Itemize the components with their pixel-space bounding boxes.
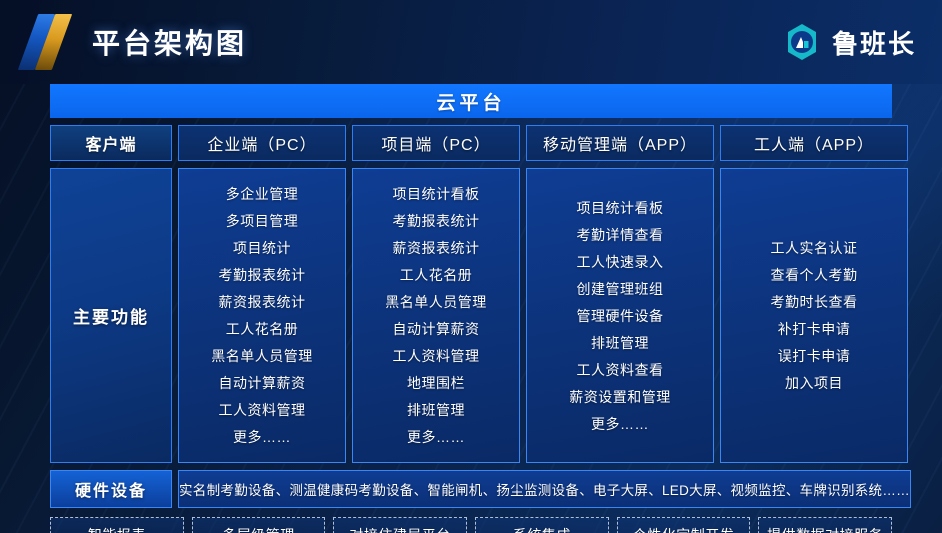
feature-item[interactable]: 工人资料管理 [393, 343, 480, 369]
cloud-platform-banner: 云平台 [50, 84, 892, 118]
feature-item[interactable]: 项目统计看板 [577, 195, 664, 221]
feature-item[interactable]: 考勤详情查看 [577, 222, 664, 248]
page-title: 平台架构图 [92, 22, 247, 62]
feature-item[interactable]: 黑名单人员管理 [385, 289, 487, 315]
service-item-data-integration-service[interactable]: 提供数据对接服务 [758, 517, 892, 533]
platform-architecture-diagram: 平台架构图 鲁班长 云平台 客户端 企业端（PC） 项目端（PC） 移动管理端（… [0, 0, 942, 533]
feature-item[interactable]: 工人资料管理 [219, 397, 306, 423]
feature-item-more[interactable]: 更多…… [233, 424, 291, 450]
feature-panel-project-pc: 项目统计看板 考勤报表统计 薪资报表统计 工人花名册 黑名单人员管理 自动计算薪… [352, 168, 520, 463]
slash-logo-icon [24, 14, 70, 70]
feature-item[interactable]: 工人资料查看 [577, 357, 664, 383]
feature-item-more[interactable]: 更多…… [407, 424, 465, 450]
feature-item[interactable]: 自动计算薪资 [219, 370, 306, 396]
brand-lockup: 鲁班长 [782, 22, 916, 62]
feature-panel-mobile-admin-app: 项目统计看板 考勤详情查看 工人快速录入 创建管理班组 管理硬件设备 排班管理 … [526, 168, 714, 463]
feature-item[interactable]: 考勤报表统计 [219, 262, 306, 288]
architecture-board: 云平台 客户端 企业端（PC） 项目端（PC） 移动管理端（APP） 工人端（A… [0, 84, 942, 533]
feature-panel-enterprise-pc: 多企业管理 多项目管理 项目统计 考勤报表统计 薪资报表统计 工人花名册 黑名单… [178, 168, 346, 463]
architecture-grid: 客户端 企业端（PC） 项目端（PC） 移动管理端（APP） 工人端（APP） … [50, 125, 892, 463]
feature-item[interactable]: 加入项目 [785, 370, 843, 396]
column-header-mobile-admin-app[interactable]: 移动管理端（APP） [526, 125, 714, 161]
services-row: 智能报表 多层级管理 对接住建局平台 系统集成 个性化定制开发 提供数据对接服务 [50, 517, 892, 533]
row-label-hardware: 硬件设备 [50, 470, 172, 508]
feature-item[interactable]: 项目统计 [233, 235, 291, 261]
service-item-system-integration[interactable]: 系统集成 [475, 517, 609, 533]
feature-item[interactable]: 黑名单人员管理 [211, 343, 313, 369]
feature-item[interactable]: 工人花名册 [226, 316, 299, 342]
feature-item[interactable]: 工人快速录入 [577, 249, 664, 275]
service-item-custom-development[interactable]: 个性化定制开发 [617, 517, 751, 533]
feature-item[interactable]: 创建管理班组 [577, 276, 664, 302]
feature-item[interactable]: 管理硬件设备 [577, 303, 664, 329]
feature-item[interactable]: 排班管理 [591, 330, 649, 356]
feature-item[interactable]: 考勤报表统计 [393, 208, 480, 234]
feature-item[interactable]: 薪资设置和管理 [569, 384, 671, 410]
feature-item[interactable]: 排班管理 [407, 397, 465, 423]
feature-item[interactable]: 多企业管理 [226, 181, 299, 207]
feature-item[interactable]: 工人实名认证 [771, 235, 858, 261]
feature-panel-worker-app: 工人实名认证 查看个人考勤 考勤时长查看 补打卡申请 误打卡申请 加入项目 [720, 168, 908, 463]
feature-item[interactable]: 误打卡申请 [778, 343, 851, 369]
service-item-government-platform-integration[interactable]: 对接住建局平台 [333, 517, 467, 533]
feature-item[interactable]: 工人花名册 [400, 262, 473, 288]
luban-hexagon-building-icon [782, 22, 822, 62]
row-label-client: 客户端 [50, 125, 172, 161]
page-header: 平台架构图 鲁班长 [0, 0, 942, 84]
column-header-worker-app[interactable]: 工人端（APP） [720, 125, 908, 161]
feature-item[interactable]: 考勤时长查看 [771, 289, 858, 315]
feature-item[interactable]: 地理围栏 [407, 370, 465, 396]
feature-item[interactable]: 查看个人考勤 [771, 262, 858, 288]
feature-item[interactable]: 自动计算薪资 [393, 316, 480, 342]
hardware-row: 硬件设备 实名制考勤设备、测温健康码考勤设备、智能闸机、扬尘监测设备、电子大屏、… [50, 470, 892, 508]
column-header-enterprise-pc[interactable]: 企业端（PC） [178, 125, 346, 161]
brand-name: 鲁班长 [832, 24, 916, 61]
column-header-project-pc[interactable]: 项目端（PC） [352, 125, 520, 161]
hardware-device-list: 实名制考勤设备、测温健康码考勤设备、智能闸机、扬尘监测设备、电子大屏、LED大屏… [178, 470, 911, 508]
feature-item[interactable]: 补打卡申请 [778, 316, 851, 342]
feature-item[interactable]: 薪资报表统计 [219, 289, 306, 315]
service-item-smart-report[interactable]: 智能报表 [50, 517, 184, 533]
feature-item[interactable]: 多项目管理 [226, 208, 299, 234]
feature-item[interactable]: 薪资报表统计 [393, 235, 480, 261]
service-item-multilevel-management[interactable]: 多层级管理 [192, 517, 326, 533]
row-label-main-features: 主要功能 [50, 168, 172, 463]
feature-item-more[interactable]: 更多…… [591, 411, 649, 437]
feature-item[interactable]: 项目统计看板 [393, 181, 480, 207]
